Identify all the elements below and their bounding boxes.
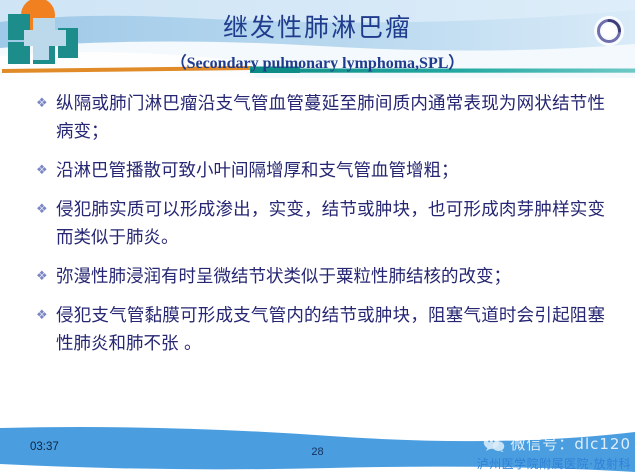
list-item: ❖ 弥漫性肺浸润有时呈微结节状类似于粟粒性肺结核的改变； xyxy=(0,263,635,291)
bullet-text: 侵犯支气管黏膜可形成支气管内的结节或肿块，阻塞气道时会引起阻塞性肺炎和肺不张 。 xyxy=(56,302,605,358)
list-item: ❖ 纵隔或肺门淋巴瘤沿支气管血管蔓延至肺间质内通常表现为网状结节性病变； xyxy=(0,90,635,146)
slide-body: ❖ 纵隔或肺门淋巴瘤沿支气管血管蔓延至肺间质内通常表现为网状结节性病变； ❖ 沿… xyxy=(0,90,635,420)
list-item: ❖ 侵犯肺实质可以形成渗出，实变，结节或肿块，也可形成肉芽肿样实变而类似于肺炎。 xyxy=(0,196,635,252)
slide-header: 继发性肺淋巴瘤 （Secondary pulmonary lymphoma,SP… xyxy=(0,0,635,78)
footer-background-graphic xyxy=(0,414,635,474)
list-item: ❖ 沿淋巴管播散可致小叶间隔增厚和支气管血管增粗； xyxy=(0,157,635,185)
presentation-slide: 继发性肺淋巴瘤 （Secondary pulmonary lymphoma,SP… xyxy=(0,0,635,474)
bullet-diamond-icon: ❖ xyxy=(36,263,56,291)
page-number: 28 xyxy=(0,446,635,458)
bullet-diamond-icon: ❖ xyxy=(36,157,56,185)
bullet-diamond-icon: ❖ xyxy=(36,302,56,330)
bullet-text: 弥漫性肺浸润有时呈微结节状类似于粟粒性肺结核的改变； xyxy=(56,263,605,291)
bullet-diamond-icon: ❖ xyxy=(36,90,56,118)
bullet-diamond-icon: ❖ xyxy=(36,196,56,224)
circle-ring-icon[interactable] xyxy=(592,14,626,48)
bullet-text: 纵隔或肺门淋巴瘤沿支气管血管蔓延至肺间质内通常表现为网状结节性病变； xyxy=(56,90,605,146)
page-subtitle: （Secondary pulmonary lymphoma,SPL） xyxy=(0,49,635,73)
slide-footer: 03:37 28 xyxy=(0,414,635,474)
bullet-text: 沿淋巴管播散可致小叶间隔增厚和支气管血管增粗； xyxy=(56,157,605,185)
bullet-text: 侵犯肺实质可以形成渗出，实变，结节或肿块，也可形成肉芽肿样实变而类似于肺炎。 xyxy=(56,196,605,252)
list-item: ❖ 侵犯支气管黏膜可形成支气管内的结节或肿块，阻塞气道时会引起阻塞性肺炎和肺不张… xyxy=(0,302,635,358)
page-title: 继发性肺淋巴瘤 xyxy=(0,14,635,42)
